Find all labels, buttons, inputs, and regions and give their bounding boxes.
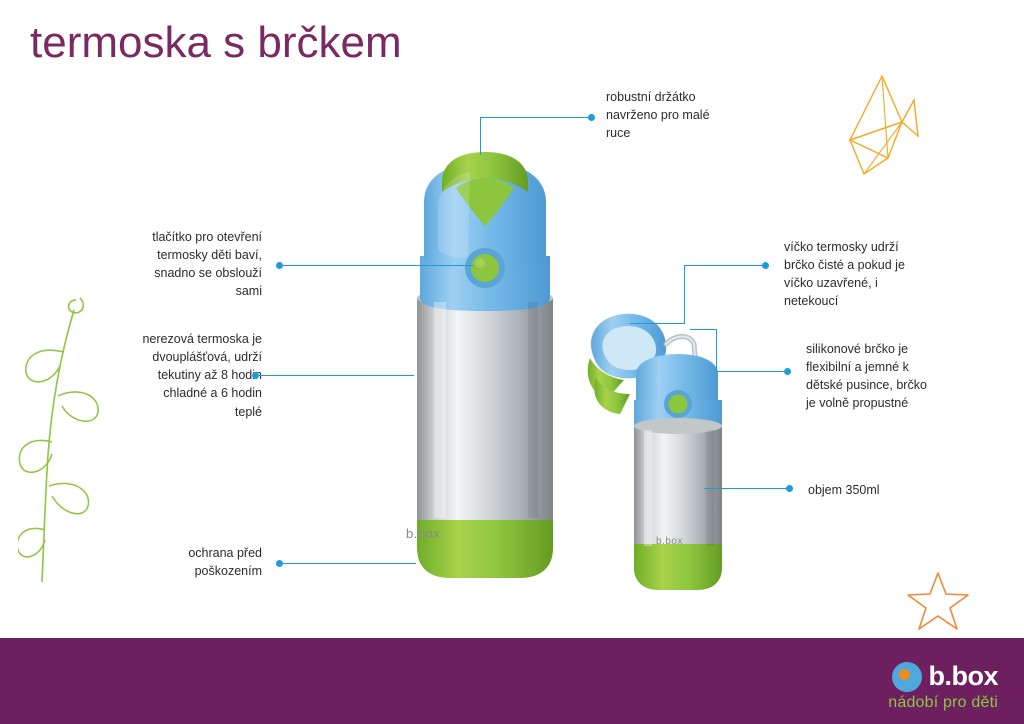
- callout-protection-leader: [283, 563, 416, 564]
- star-decoration-icon: [905, 570, 971, 637]
- footer-bar: b.box nádobí pro děti: [0, 638, 1024, 724]
- origami-bird-icon: [790, 70, 920, 185]
- logo-tagline: nádobí pro děti: [888, 694, 998, 712]
- callout-straw-text: silikonové brčko je flexibilní a jemné k…: [806, 340, 982, 413]
- product-image-large-bottle: b.box: [390, 148, 580, 593]
- callout-button-dot: [276, 262, 283, 269]
- callout-handle-text: robustní držátko navrženo pro malé ruce: [606, 88, 756, 142]
- callout-handle-leader-v: [480, 117, 481, 155]
- callout-straw-dot: [784, 368, 791, 375]
- callout-lid-leader-h2: [630, 323, 685, 324]
- poster-page: termoska s brčkem: [0, 0, 1024, 724]
- callout-straw-leader-h2: [690, 329, 717, 330]
- callout-volume-leader: [704, 488, 788, 489]
- brand-logo: b.box nádobí pro děti: [888, 661, 998, 712]
- callout-insulation-dot: [252, 372, 259, 379]
- callout-lid-dot: [762, 262, 769, 269]
- callout-insulation-text: nerezová termoska je dvouplášťová, udrží…: [95, 330, 262, 421]
- callout-protection-dot: [276, 560, 283, 567]
- page-title: termoska s brčkem: [30, 18, 402, 68]
- callout-straw-leader-v: [716, 329, 717, 371]
- brand-label-large: b.box: [406, 526, 440, 541]
- logo-name: b.box: [929, 661, 999, 692]
- callout-lid-leader-v: [684, 265, 685, 323]
- callout-volume-text: objem 350ml: [808, 481, 938, 499]
- callout-button-text: tlačítko pro otevření termosky děti baví…: [105, 228, 262, 301]
- callout-straw-leader-h: [716, 371, 784, 372]
- callout-protection-text: ochrana před poškozením: [110, 544, 262, 580]
- brand-label-small: b.box: [656, 536, 683, 547]
- callout-lid-text: víčko termosky udrží brčko čisté a pokud…: [784, 238, 959, 311]
- callout-button-leader: [283, 265, 473, 266]
- bbox-logo-icon: [892, 662, 922, 692]
- callout-lid-leader-h: [684, 265, 762, 266]
- callout-insulation-leader: [259, 375, 414, 376]
- callout-handle-leader-h: [480, 117, 590, 118]
